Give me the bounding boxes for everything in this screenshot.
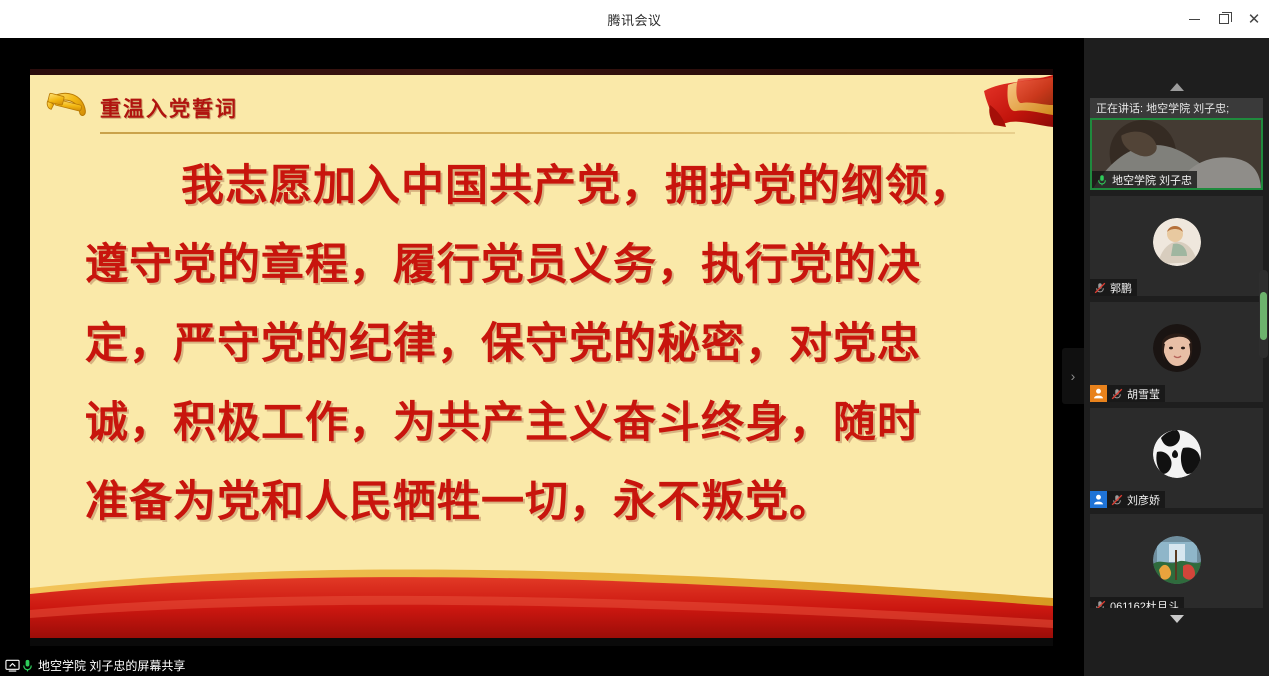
participant-namebar: 胡雪莹 — [1090, 385, 1165, 402]
scrollbar-thumb[interactable] — [1260, 292, 1267, 340]
panel-scroll-up-button[interactable] — [1084, 76, 1269, 98]
microphone-muted-icon — [1093, 281, 1107, 295]
participant-namebar: 061162杜月斗 — [1090, 597, 1184, 608]
participant-name: 郭鹏 — [1107, 280, 1132, 296]
meeting-window: 腾讯会议 ✕ — [0, 0, 1269, 676]
participant-name: 刘彦娇 — [1124, 492, 1160, 508]
title-bar: 腾讯会议 ✕ — [0, 0, 1269, 38]
oath-text: 我志愿加入中国共产党，拥护党的纲领， 遵守党的章程，履行党员义务，执行党的决 定… — [85, 147, 1000, 542]
participant-namebar: 刘彦娇 — [1090, 491, 1165, 508]
co-host-badge — [1090, 491, 1107, 508]
window-controls: ✕ — [1179, 0, 1269, 38]
participant-tile[interactable]: 地空学院 刘子忠 — [1090, 118, 1263, 190]
participant-tiles: 地空学院 刘子忠 郭鹏 — [1090, 118, 1263, 608]
red-wave-decoration-icon — [30, 554, 1053, 646]
triangle-down-icon — [1170, 615, 1184, 623]
close-icon: ✕ — [1248, 12, 1261, 27]
oath-line: 定，严守党的纪律，保守党的秘密，对党忠 — [85, 305, 1000, 384]
participant-namebar: 郭鹏 — [1090, 279, 1137, 296]
triangle-up-icon — [1170, 83, 1184, 91]
microphone-muted-icon — [1110, 493, 1124, 507]
avatar — [1153, 536, 1201, 584]
participant-panel: 正在讲话: 地空学院 刘子忠; — [1084, 38, 1269, 676]
slide-header: 重温入党誓词 — [30, 75, 1053, 137]
slide-title: 重温入党誓词 — [100, 93, 238, 123]
avatar — [1153, 430, 1201, 478]
microphone-muted-icon — [1093, 599, 1107, 609]
screen-share-icon — [5, 658, 20, 673]
maximize-button[interactable] — [1209, 0, 1239, 38]
minimize-icon — [1189, 19, 1200, 20]
window-title: 腾讯会议 — [607, 10, 661, 29]
oath-line: 我志愿加入中国共产党，拥护党的纲领， — [85, 147, 1000, 226]
microphone-muted-icon — [1110, 387, 1124, 401]
oath-line: 准备为党和人民牺牲一切，永不叛党。 — [85, 463, 1000, 542]
person-icon — [1092, 493, 1105, 506]
participant-tile[interactable]: 郭鹏 — [1090, 196, 1263, 296]
status-bar: 地空学院 刘子忠的屏幕共享 — [0, 654, 1084, 676]
person-icon — [1092, 387, 1105, 400]
oath-line: 诚，积极工作，为共产主义奋斗终身，随时 — [85, 384, 1000, 463]
chevron-right-icon: › — [1071, 368, 1076, 384]
avatar — [1153, 324, 1201, 372]
close-button[interactable]: ✕ — [1239, 0, 1269, 38]
active-speaker-label: 正在讲话: 地空学院 刘子忠; — [1090, 98, 1263, 118]
avatar — [1153, 218, 1201, 266]
microphone-icon — [20, 658, 35, 673]
shared-screen-stage: 重温入党誓词 — [0, 38, 1269, 676]
microphone-icon — [1095, 173, 1109, 187]
participant-tile[interactable]: 胡雪莹 — [1090, 302, 1263, 402]
participant-name: 地空学院 刘子忠 — [1109, 172, 1192, 188]
oath-line: 遵守党的章程，履行党员义务，执行党的决 — [85, 226, 1000, 305]
panel-scroll-down-button[interactable] — [1084, 608, 1269, 630]
host-badge — [1090, 385, 1107, 402]
participant-name: 胡雪莹 — [1124, 386, 1160, 402]
party-emblem-icon — [42, 80, 94, 132]
minimize-button[interactable] — [1179, 0, 1209, 38]
participant-namebar: 地空学院 刘子忠 — [1092, 171, 1197, 188]
collapse-panel-button[interactable]: › — [1062, 348, 1084, 404]
participant-tile[interactable]: 刘彦娇 — [1090, 408, 1263, 508]
panel-scrollbar[interactable] — [1259, 270, 1268, 358]
participant-tile[interactable]: 061162杜月斗 — [1090, 514, 1263, 608]
share-status-text: 地空学院 刘子忠的屏幕共享 — [38, 657, 185, 674]
title-underline — [100, 132, 1015, 134]
red-ribbon-decoration-icon — [948, 75, 1053, 140]
participant-name: 061162杜月斗 — [1107, 598, 1179, 609]
shared-slide: 重温入党誓词 — [30, 69, 1053, 646]
maximize-icon — [1219, 14, 1229, 24]
